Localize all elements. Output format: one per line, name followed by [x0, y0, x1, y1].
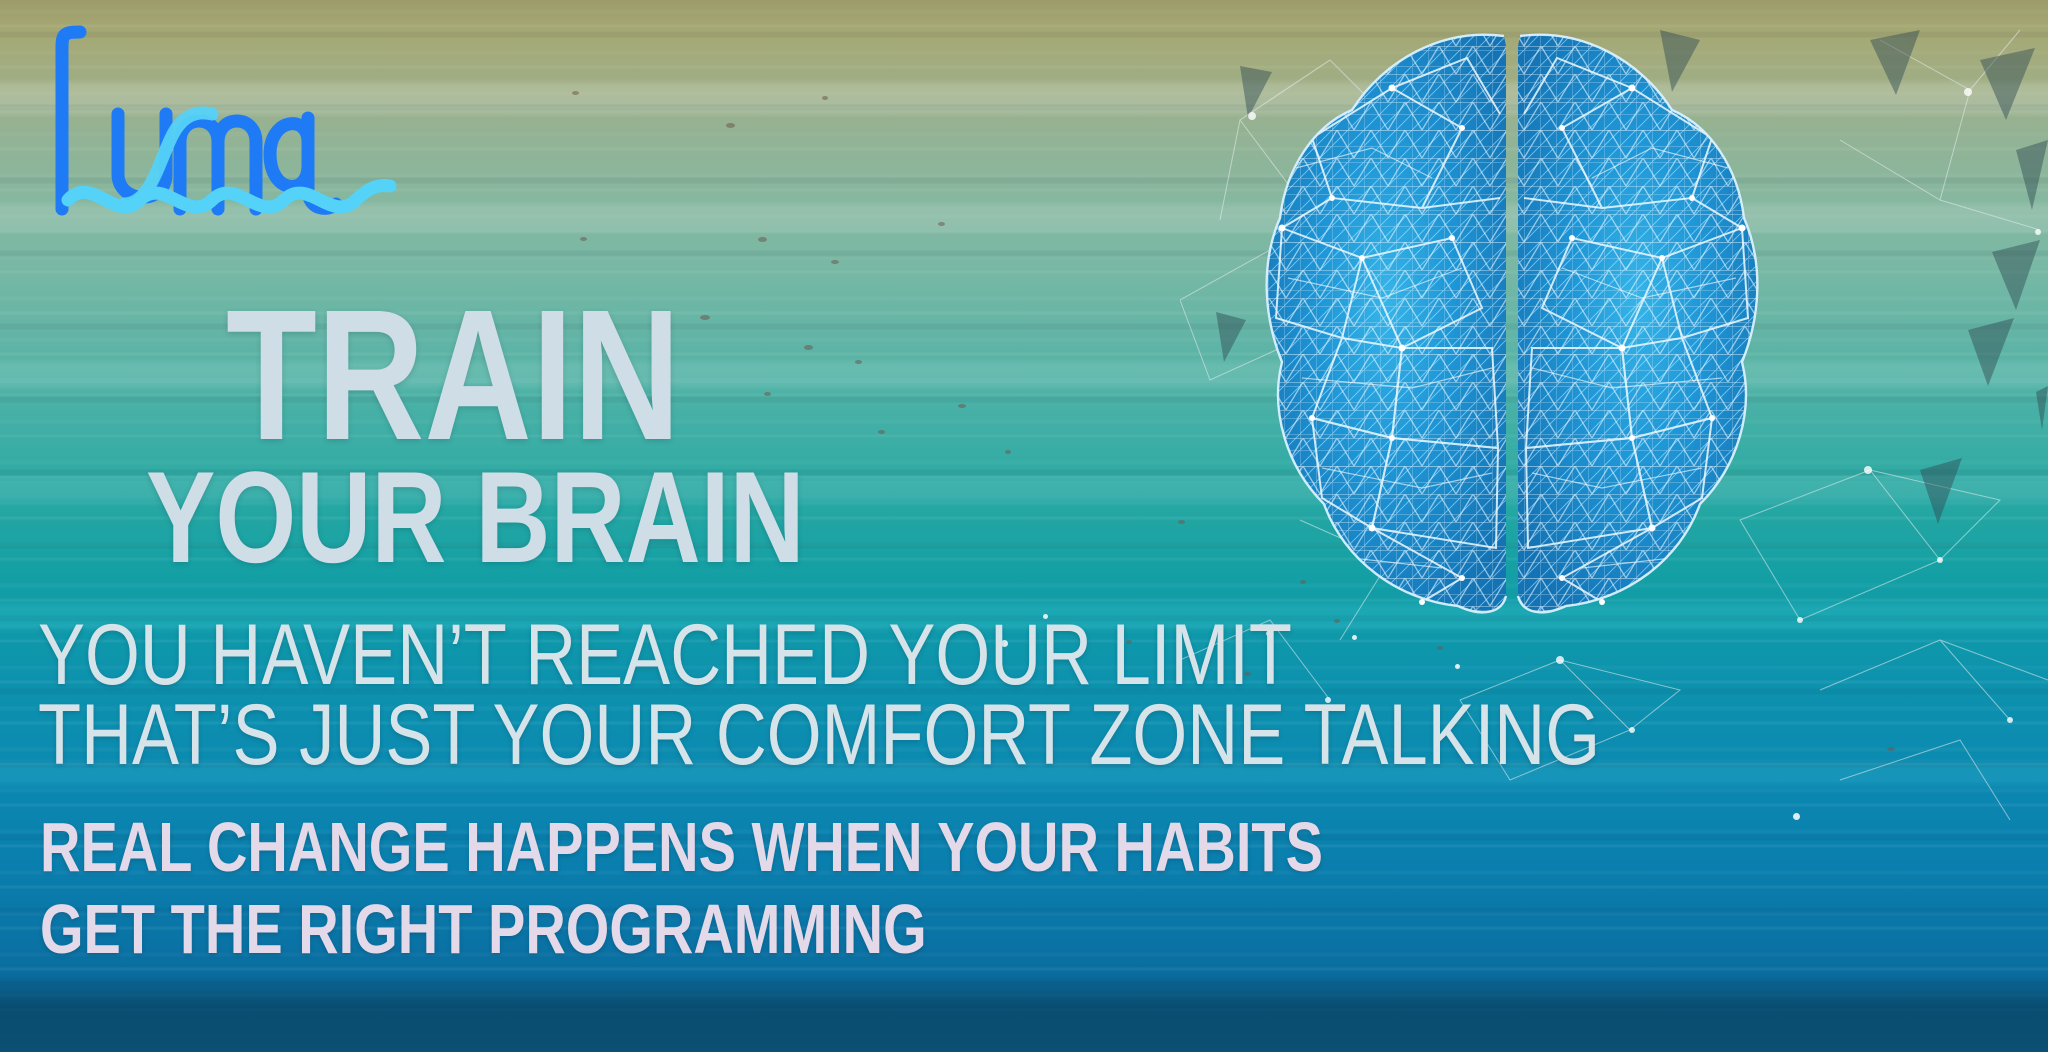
background-bottom-vignette — [0, 974, 2048, 1052]
wireframe-brain-icon — [1252, 18, 1772, 648]
tagline-line-1: YOU HAVEN’T REACHED YOUR LIMIT — [38, 612, 1292, 698]
luma-logo[interactable]: Luma — [46, 14, 406, 224]
subline-line-1: REAL CHANGE HAPPENS WHEN YOUR HABITS — [40, 812, 1323, 882]
subline-line-2: GET THE RIGHT PROGRAMMING — [40, 894, 927, 964]
tagline-line-2: THAT’S JUST YOUR COMFORT ZONE TALKING — [38, 692, 1600, 778]
brain-right-hemisphere — [1512, 18, 1772, 648]
brain-left-hemisphere — [1252, 18, 1512, 648]
promo-banner: Luma TRAIN YOUR BRAIN YOU HAVEN’T REACHE… — [0, 0, 2048, 1052]
headline-line-2: YOUR BRAIN — [146, 464, 805, 571]
headline-line-1: TRAIN — [226, 300, 681, 453]
